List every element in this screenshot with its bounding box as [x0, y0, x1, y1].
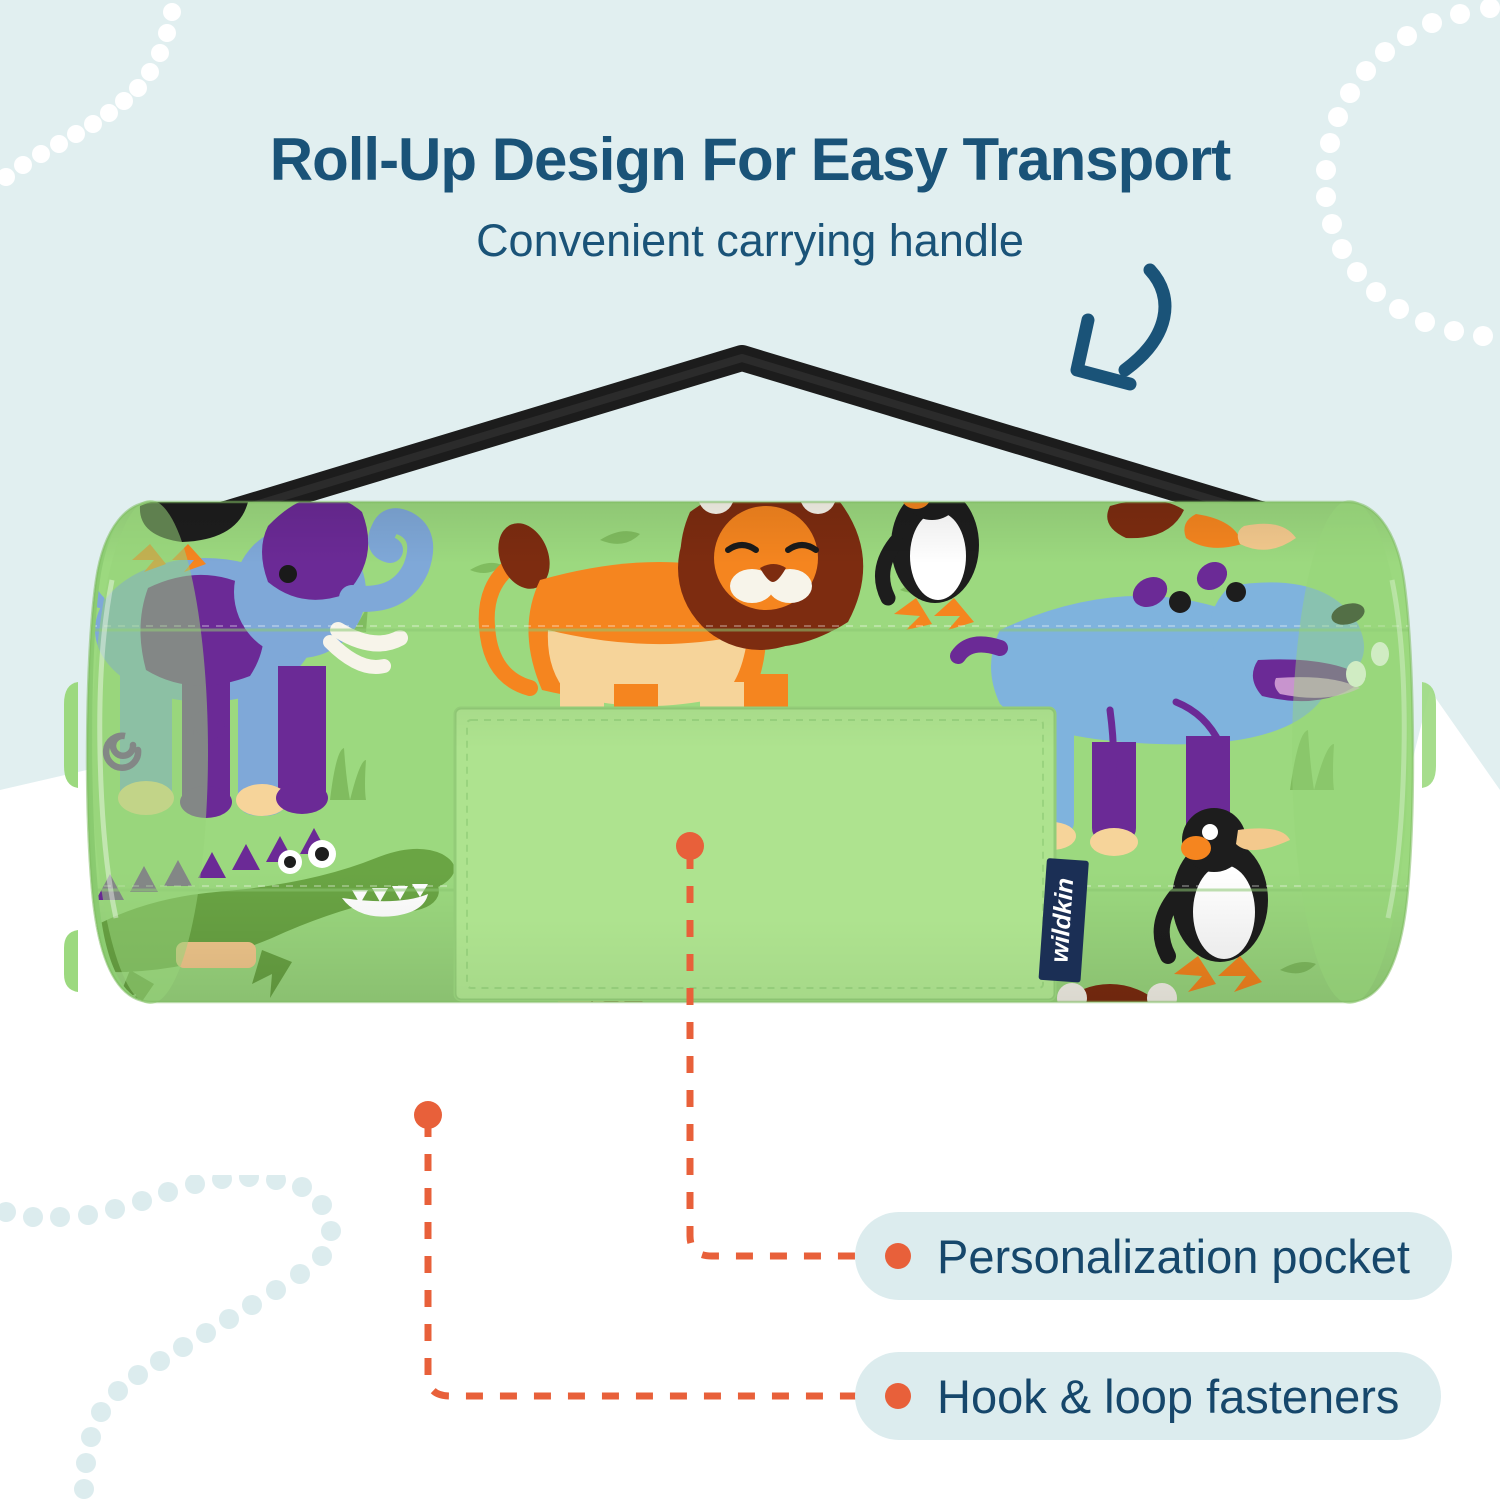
- infographic-canvas: Roll-Up Design For Easy Transport Conven…: [0, 0, 1500, 1500]
- product-image-rolled-nap-mat: wildkin: [0, 330, 1500, 1150]
- curved-arrow-icon: [1030, 262, 1200, 402]
- pattern-lion-lying: [871, 983, 1182, 1150]
- callout-bullet-icon: [885, 1383, 911, 1409]
- page-subtitle: Convenient carrying handle: [0, 215, 1500, 267]
- personalization-pocket: [455, 708, 1055, 1000]
- brand-tag-wildkin: wildkin: [1038, 858, 1088, 983]
- anchor-dot-personalization-pocket: [676, 832, 704, 860]
- pattern-zebra: [80, 1016, 250, 1108]
- callout-bullet-icon: [885, 1243, 911, 1269]
- page-title: Roll-Up Design For Easy Transport: [0, 128, 1500, 193]
- callout-personalization-pocket: Personalization pocket: [855, 1212, 1452, 1300]
- callout-label: Personalization pocket: [937, 1229, 1410, 1284]
- callout-hook-loop-fasteners: Hook & loop fasteners: [855, 1352, 1441, 1440]
- callout-label: Hook & loop fasteners: [937, 1369, 1399, 1424]
- svg-text:wildkin: wildkin: [1045, 877, 1079, 963]
- anchor-dot-hook-loop-fasteners: [414, 1101, 442, 1129]
- headings-block: Roll-Up Design For Easy Transport Conven…: [0, 128, 1500, 267]
- pattern-giraffe-spots: [1346, 1063, 1436, 1136]
